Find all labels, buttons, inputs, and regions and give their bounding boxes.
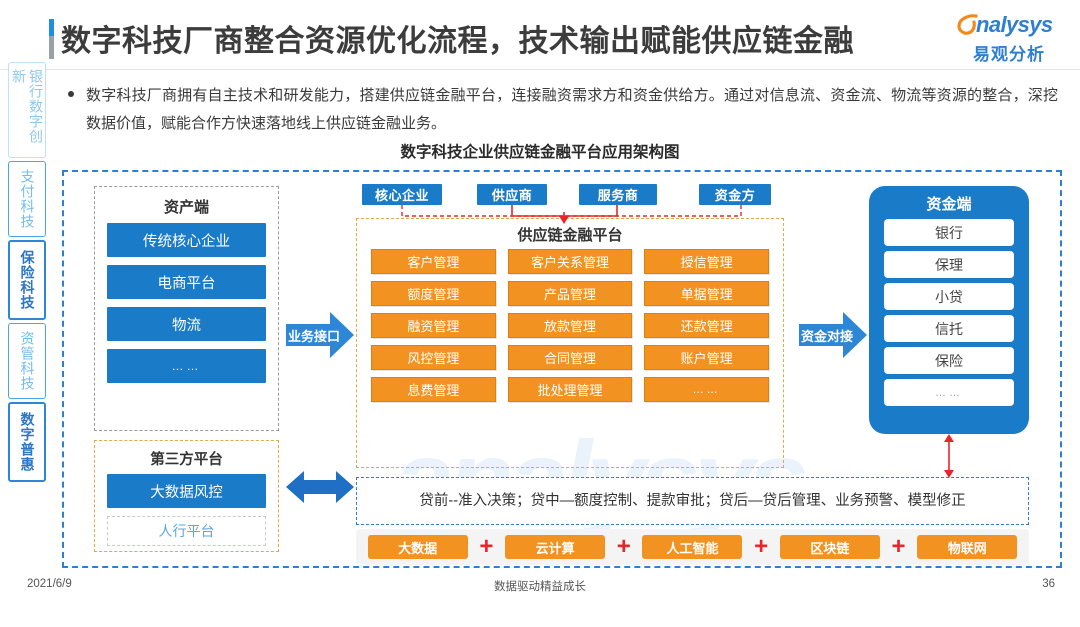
tech-chip-bigdata[interactable]: 大数据 — [368, 535, 468, 559]
module-quota-management[interactable]: 额度管理 — [371, 281, 496, 306]
third-party-panel: 第三方平台 大数据风控 人行平台 — [94, 440, 279, 552]
asset-item-logistics[interactable]: 物流 — [107, 307, 266, 341]
sidebar-item-payment-tech[interactable]: 支付科技 — [8, 161, 46, 237]
fund-item-insurance[interactable]: 保险 — [884, 347, 1014, 374]
fund-item-bank[interactable]: 银行 — [884, 219, 1014, 246]
fund-item-more[interactable]: …… — [884, 379, 1014, 406]
asset-item-core-enterprise[interactable]: 传统核心企业 — [107, 223, 266, 257]
sidebar-item-label: 数字普惠 — [19, 412, 36, 472]
fund-side-panel: 资金端 银行 保理 小贷 信托 保险 …… — [869, 186, 1029, 434]
module-batch-processing[interactable]: 批处理管理 — [508, 377, 633, 402]
third-party-title: 第三方平台 — [95, 441, 278, 474]
sidebar-item-label: 支付科技 — [19, 169, 36, 229]
fund-docking-arrow: 资金对接 — [799, 312, 867, 358]
asset-item-more[interactable]: …… — [107, 349, 266, 383]
module-financing-management[interactable]: 融资管理 — [371, 313, 496, 338]
footer-page-number: 36 — [1042, 578, 1055, 590]
module-more[interactable]: …… — [644, 377, 769, 402]
logo-wordmark: nalysys — [976, 13, 1053, 37]
asset-side-title: 资产端 — [95, 187, 278, 223]
fund-docking-label: 资金对接 — [801, 326, 853, 345]
tech-chip-blockchain[interactable]: 区块链 — [780, 535, 880, 559]
module-repayment-management[interactable]: 还款管理 — [644, 313, 769, 338]
slide-header: 数字科技厂商整合资源优化流程，技术输出赋能供应链金融 nalysys 易观分析 — [0, 0, 1080, 70]
fund-side-title: 资金端 — [869, 186, 1029, 219]
asset-item-ecommerce-platform[interactable]: 电商平台 — [107, 265, 266, 299]
fund-item-microloan[interactable]: 小贷 — [884, 283, 1014, 310]
business-interface-label: 业务接口 — [288, 326, 340, 345]
plus-icon: + — [892, 537, 906, 557]
module-risk-control[interactable]: 风控管理 — [371, 345, 496, 370]
tech-chip-iot[interactable]: 物联网 — [917, 535, 1017, 559]
module-loan-disbursement[interactable]: 放款管理 — [508, 313, 633, 338]
title-accent-bar — [49, 19, 54, 59]
plus-icon: + — [479, 537, 493, 557]
bullet-dot-icon — [68, 82, 86, 138]
module-customer-management[interactable]: 客户管理 — [371, 249, 496, 274]
fund-lifecycle-connector — [932, 434, 966, 478]
header-divider — [0, 69, 1080, 70]
page-title: 数字科技厂商整合资源优化流程，技术输出赋能供应链金融 — [61, 16, 854, 60]
slide-page: 数字科技厂商整合资源优化流程，技术输出赋能供应链金融 nalysys 易观分析 … — [0, 0, 1080, 608]
module-crm[interactable]: 客户关系管理 — [508, 249, 633, 274]
module-document-management[interactable]: 单据管理 — [644, 281, 769, 306]
fund-item-factoring[interactable]: 保理 — [884, 251, 1014, 278]
analysys-logo: nalysys 易观分析 — [950, 12, 1068, 60]
plus-icon: + — [617, 537, 631, 557]
sidebar-item-label: 银行数字创新 — [10, 69, 44, 151]
scf-module-grid: 客户管理 客户关系管理 授信管理 额度管理 产品管理 单据管理 融资管理 放款管… — [357, 249, 783, 402]
footer-tagline: 数据驱动精益成长 — [0, 578, 1080, 594]
sidebar-item-label: 保险科技 — [19, 250, 36, 310]
scf-platform-panel: 供应链金融平台 客户管理 客户关系管理 授信管理 额度管理 产品管理 单据管理 … — [356, 218, 784, 468]
module-product-management[interactable]: 产品管理 — [508, 281, 633, 306]
arrow-left-right-icon — [286, 467, 354, 507]
sidebar-item-label: 资管科技 — [19, 331, 36, 391]
loan-lifecycle-strip: 贷前--准入决策；贷中—额度控制、提款审批；贷后—贷后管理、业务预警、模型修正 — [356, 477, 1029, 525]
logo-chinese: 易观分析 — [950, 40, 1068, 65]
sidebar-tabs: 银行数字创新 支付科技 保险科技 资管科技 数字普惠 — [8, 62, 48, 485]
asset-side-panel: 资产端 传统核心企业 电商平台 物流 …… — [94, 186, 279, 431]
business-interface-arrow: 业务接口 — [286, 312, 354, 358]
module-credit-granting[interactable]: 授信管理 — [644, 249, 769, 274]
module-fee-management[interactable]: 息费管理 — [371, 377, 496, 402]
fund-item-trust[interactable]: 信托 — [884, 315, 1014, 342]
slide-footer: 2021/6/9 数据驱动精益成长 36 — [0, 574, 1080, 608]
bullet-text: 数字科技厂商拥有自主技术和研发能力，搭建供应链金融平台，连接融资需求方和资金供给… — [86, 82, 1058, 138]
tech-stack-strip: 大数据 + 云计算 + 人工智能 + 区块链 + 物联网 — [356, 529, 1029, 565]
architecture-diagram: analysys 易观分析 资产端 传统核心企业 电商平台 物流 …… 第三方平… — [62, 170, 1062, 568]
sidebar-item-asset-management-tech[interactable]: 资管科技 — [8, 323, 46, 399]
role-connector-lines — [356, 202, 784, 224]
plus-icon: + — [754, 537, 768, 557]
sidebar-item-insurance-tech[interactable]: 保险科技 — [8, 240, 46, 320]
tech-chip-cloud-computing[interactable]: 云计算 — [505, 535, 605, 559]
sidebar-item-digital-inclusive-finance[interactable]: 数字普惠 — [8, 402, 46, 482]
bidirectional-arrow — [286, 467, 354, 507]
third-party-item-pboc-platform[interactable]: 人行平台 — [107, 516, 266, 546]
bullet-paragraph: 数字科技厂商拥有自主技术和研发能力，搭建供应链金融平台，连接融资需求方和资金供给… — [68, 82, 1058, 138]
third-party-item-bigdata-riskcontrol[interactable]: 大数据风控 — [107, 474, 266, 508]
module-account-management[interactable]: 账户管理 — [644, 345, 769, 370]
diagram-subtitle: 数字科技企业供应链金融平台应用架构图 — [0, 140, 1080, 162]
module-contract-management[interactable]: 合同管理 — [508, 345, 633, 370]
tech-chip-ai[interactable]: 人工智能 — [642, 535, 742, 559]
